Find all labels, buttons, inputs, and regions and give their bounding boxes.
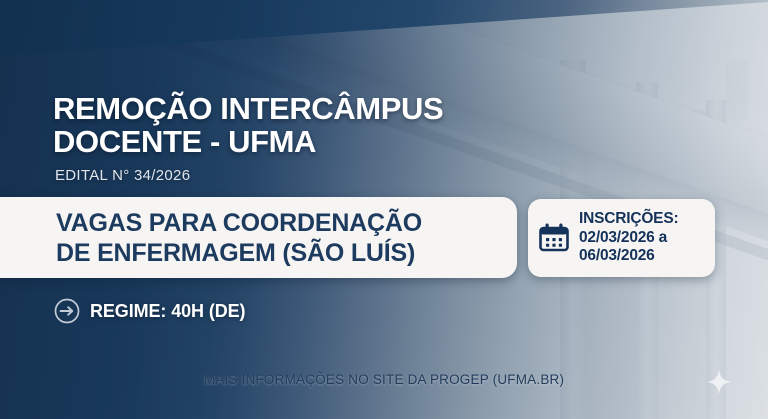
vacancy-card: VAGAS PARA COORDENAÇÃO DE ENFERMAGEM (SÃ… bbox=[0, 197, 517, 278]
announcement-banner: REMOÇÃO INTERCÂMPUS DOCENTE - UFMA EDITA… bbox=[0, 0, 768, 419]
calendar-icon bbox=[537, 221, 571, 255]
inscriptions-text: INSCRIÇÕES: 02/03/2026 a 06/03/2026 bbox=[579, 210, 678, 267]
sparkle-icon bbox=[706, 369, 732, 395]
vacancy-card-text: VAGAS PARA COORDENAÇÃO DE ENFERMAGEM (SÃ… bbox=[56, 208, 422, 268]
inscriptions-badge: INSCRIÇÕES: 02/03/2026 a 06/03/2026 bbox=[528, 199, 715, 277]
regime-row: REGIME: 40H (DE) bbox=[53, 297, 245, 325]
arrow-circle-right-icon bbox=[53, 297, 81, 325]
regime-text: REGIME: 40H (DE) bbox=[90, 301, 245, 322]
page-title: REMOÇÃO INTERCÂMPUS DOCENTE - UFMA bbox=[53, 92, 443, 159]
footer-info: MAIS INFORMAÇÕES NO SITE DA PROGEP (UFMA… bbox=[0, 372, 768, 387]
edital-number: EDITAL N° 34/2026 bbox=[55, 167, 190, 184]
